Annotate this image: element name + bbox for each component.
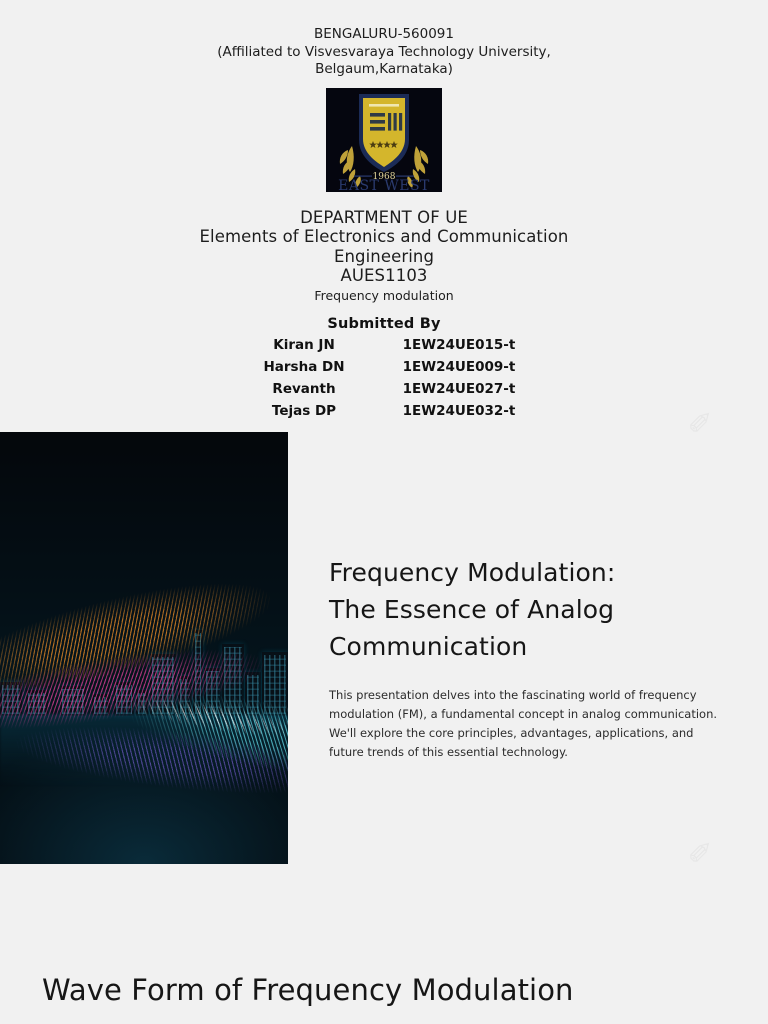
student-usn: 1EW24UE015-t — [379, 334, 539, 356]
student-name: Harsha DN — [229, 356, 379, 378]
svg-text:EAST WEST: EAST WEST — [338, 178, 430, 192]
slide-intro-body: This presentation delves into the fascin… — [329, 686, 725, 762]
east-west-college-logo-icon: 1968 EAST WEST — [326, 88, 442, 192]
student-name: Revanth — [229, 378, 379, 400]
student-usn: 1EW24UE032-t — [379, 400, 539, 422]
student-usn: 1EW24UE027-t — [379, 378, 539, 400]
submitted-by-block: Submitted By Kiran JN 1EW24UE015-t Harsh… — [0, 316, 768, 422]
slide-intro-text-column: Frequency Modulation: The Essence of Ana… — [329, 554, 729, 762]
affiliation-line-2: Belgaum,Karnataka) — [0, 61, 768, 79]
course-code: AUES1103 — [0, 266, 768, 286]
department-subject-line-2: Engineering — [0, 247, 768, 267]
slide-waveform-title: Wave Form of Frequency Modulation — [42, 971, 574, 1009]
table-row: Tejas DP 1EW24UE032-t — [229, 400, 539, 422]
cover-section: BENGALURU-560091 (Affiliated to Visvesva… — [0, 0, 768, 422]
hero-image-night-city-waves — [0, 432, 288, 864]
table-row: Kiran JN 1EW24UE015-t — [229, 334, 539, 356]
slide-intro-title-line-3: Communication — [329, 632, 527, 661]
college-address: BENGALURU-560091 — [0, 26, 768, 44]
student-name: Tejas DP — [229, 400, 379, 422]
table-row: Harsha DN 1EW24UE009-t — [229, 356, 539, 378]
slide-intro: Frequency Modulation: The Essence of Ana… — [0, 432, 768, 864]
department-name: DEPARTMENT OF UE — [0, 208, 768, 228]
slide-intro-title-line-1: Frequency Modulation: — [329, 558, 615, 587]
department-subject-line-1: Elements of Electronics and Communicatio… — [0, 227, 768, 247]
student-usn: 1EW24UE009-t — [379, 356, 539, 378]
student-name: Kiran JN — [229, 334, 379, 356]
students-table: Kiran JN 1EW24UE015-t Harsha DN 1EW24UE0… — [229, 334, 539, 422]
presentation-page: BENGALURU-560091 (Affiliated to Visvesva… — [0, 0, 768, 1024]
table-row: Revanth 1EW24UE027-t — [229, 378, 539, 400]
slide-intro-title: Frequency Modulation: The Essence of Ana… — [329, 554, 729, 665]
department-block: DEPARTMENT OF UE Elements of Electronics… — [0, 208, 768, 304]
college-logo-wrapper: 1968 EAST WEST — [0, 88, 768, 192]
submitted-by-label: Submitted By — [0, 316, 768, 332]
slide-waveform: Wave Form of Frequency Modulation — [0, 864, 768, 1024]
affiliation-line-1: (Affiliated to Visvesvaraya Technology U… — [0, 44, 768, 62]
watermark-icon-top: ✐ — [683, 408, 717, 442]
slide-intro-title-line-2: The Essence of Analog — [329, 595, 614, 624]
course-topic: Frequency modulation — [0, 287, 768, 304]
